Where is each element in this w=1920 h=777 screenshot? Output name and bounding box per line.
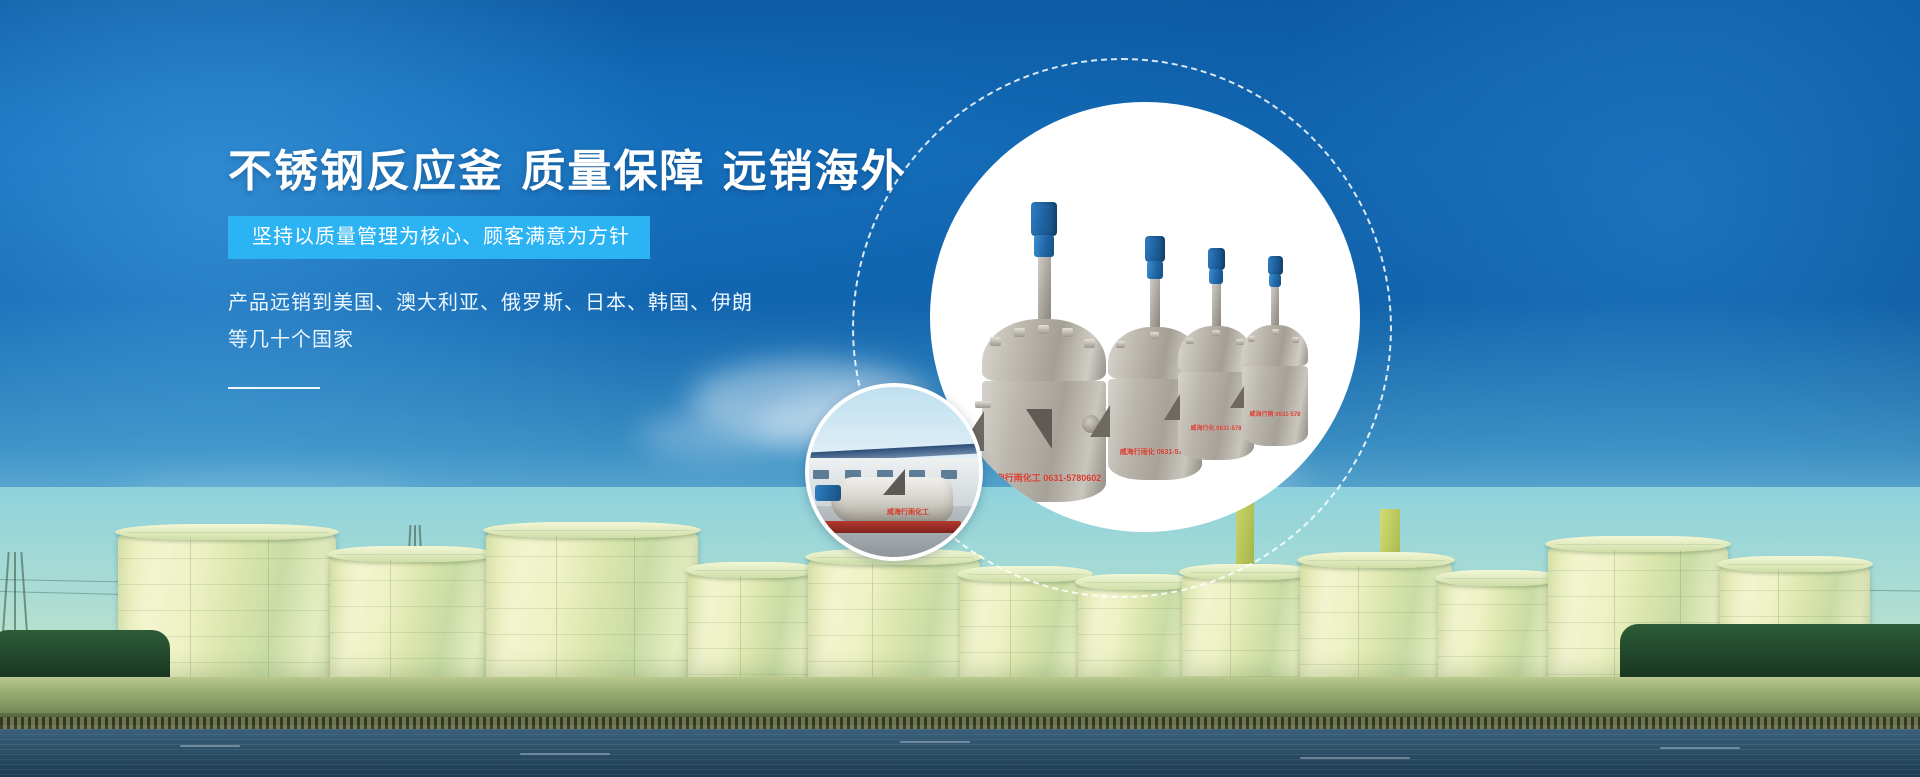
storage-tank	[1438, 578, 1558, 682]
storage-tank	[808, 557, 980, 682]
reactor-gearbox	[1147, 261, 1163, 279]
reactor-brand-line1: 威海行雨化工	[987, 473, 1041, 483]
storage-tank	[1300, 560, 1452, 682]
reactor-brand-text: 威海行雨 0631-578	[1249, 412, 1300, 420]
storage-tank	[1182, 572, 1310, 682]
reactor-brand-line2: 0631-578	[1275, 412, 1300, 418]
reactor-shaft	[1271, 287, 1279, 325]
reactor-head	[1242, 325, 1308, 366]
reactor-unit: 威海行雨 0631-578	[1242, 256, 1308, 446]
tree-line	[1620, 624, 1920, 682]
reactor-brand-text: 威海行化 0631-578	[1190, 426, 1241, 434]
reactor-motor	[1268, 256, 1283, 275]
reactor-motor	[1145, 236, 1165, 262]
tree-line	[0, 630, 170, 682]
reactor-gearbox	[1269, 274, 1281, 287]
accent-rule	[228, 387, 320, 389]
reactor-brand-text: 威海行雨化工 0631-5780602	[987, 473, 1102, 484]
tagline-badge: 坚持以质量管理为核心、顾客满意为方针	[228, 216, 650, 259]
reactor-support-leg	[1230, 386, 1244, 408]
reactor-vessel: 威海行雨化工 0631-5780602	[982, 381, 1106, 502]
reactor-support-leg	[1026, 409, 1052, 449]
reactor-gearbox	[1034, 235, 1054, 257]
hero-banner: 威海行雨化工 0631-5780602 威海行	[0, 0, 1920, 777]
reactor-support-leg	[1164, 394, 1180, 420]
headline: 不锈钢反应釜 质量保障 远销海外	[228, 150, 948, 194]
inset-brand-text: 威海行雨化工	[887, 509, 929, 517]
reactor-shaft	[1212, 284, 1221, 326]
reactor-support-leg	[1090, 405, 1110, 437]
cloud	[640, 412, 790, 460]
reactor-motor	[1208, 248, 1225, 270]
reactor-shaft	[1038, 257, 1051, 319]
reactor-brand-line2: 0631-5780602	[1043, 473, 1101, 483]
storage-tank	[330, 554, 492, 682]
copy-block: 不锈钢反应釜 质量保障 远销海外 坚持以质量管理为核心、顾客满意为方针 产品远销…	[228, 150, 948, 389]
paragraph: 产品远销到美国、澳大利亚、俄罗斯、日本、韩国、伊朗 等几十个国家	[228, 285, 788, 359]
storage-tank	[486, 530, 698, 682]
inset-reactor-fin	[883, 469, 905, 495]
reactor-brand-line2: 0631-578	[1216, 426, 1241, 432]
inset-reactor-motor	[815, 485, 841, 501]
paragraph-line-1: 产品远销到美国、澳大利亚、俄罗斯、日本、韩国、伊朗	[228, 285, 788, 322]
storage-tank	[688, 570, 816, 682]
reactor-brand-line1: 威海行化	[1190, 426, 1214, 432]
reactor-unit: 威海行雨化工 0631-5780602	[982, 202, 1106, 502]
reactor-shaft	[1150, 279, 1160, 327]
reactor-brand-line1: 威海行雨化	[1120, 449, 1155, 456]
reactor-gearbox	[1209, 269, 1223, 284]
water	[0, 729, 1920, 777]
product-photo-circle: 威海行雨化工 0631-5780602 威海行	[930, 102, 1360, 532]
paragraph-line-2: 等几十个国家	[228, 322, 788, 359]
inset-transport-base	[823, 521, 961, 533]
reactor-vessel: 威海行雨 0631-578	[1242, 366, 1308, 446]
reactor-motor	[1031, 202, 1057, 236]
quay-wall	[0, 677, 1920, 717]
reactor-head	[982, 319, 1106, 381]
inset-photo-circle: 威海行雨化工	[805, 383, 983, 561]
reactor-brand-line1: 威海行雨	[1249, 412, 1273, 418]
